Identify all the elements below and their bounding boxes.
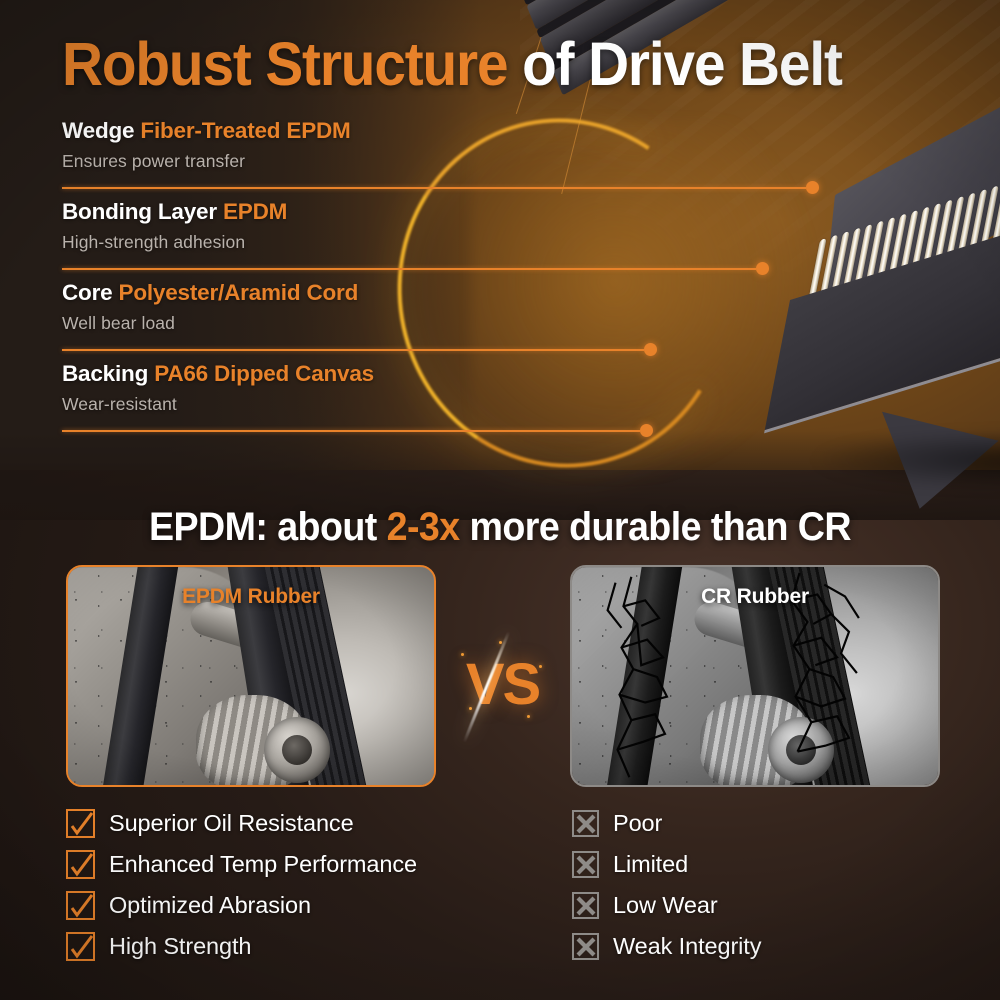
check-icon	[66, 850, 95, 879]
list-item: High Strength	[66, 926, 417, 967]
cross-icon	[572, 810, 599, 837]
list-item-label: Enhanced Temp Performance	[109, 851, 417, 878]
feature-connector-line	[62, 430, 640, 432]
card-label-epdm: EPDM Rubber	[68, 585, 434, 609]
vs-label: VS	[455, 645, 550, 725]
feature-connector-line	[62, 187, 806, 189]
list-item-label: Poor	[613, 810, 662, 837]
connector-dot-icon	[644, 343, 657, 356]
feature-label: Bonding Layer	[62, 199, 223, 224]
infographic-canvas: Robust Structure of Drive Belt Wedge Fib…	[0, 0, 1000, 1000]
feature-item-bonding-layer: Bonding Layer EPDM High-strength adhesio…	[62, 199, 942, 280]
subhead-pre: EPDM: about	[149, 505, 387, 549]
feature-heading: Bonding Layer EPDM	[62, 199, 942, 225]
card-epdm-rubber[interactable]: EPDM Rubber	[66, 565, 436, 787]
feature-heading: Backing PA66 Dipped Canvas	[62, 361, 942, 387]
subhead-post: more durable than CR	[460, 505, 851, 549]
connector-dot-icon	[756, 262, 769, 275]
feature-subtitle: High-strength adhesion	[62, 232, 942, 253]
page-title-accent: Robust Structure	[62, 30, 507, 98]
feature-connector-line	[62, 268, 756, 270]
epdm-benefits-list: Superior Oil Resistance Enhanced Temp Pe…	[66, 803, 417, 967]
subhead-highlight: 2-3x	[387, 505, 460, 549]
durability-subheadline: EPDM: about 2-3x more durable than CR	[30, 505, 970, 550]
list-item-label: Low Wear	[613, 892, 718, 919]
feature-heading: Wedge Fiber-Treated EPDM	[62, 118, 942, 144]
cross-icon	[572, 851, 599, 878]
card-cr-rubber[interactable]: CR Rubber	[570, 565, 940, 787]
list-item: Poor	[572, 803, 761, 844]
list-item-label: Optimized Abrasion	[109, 892, 311, 919]
feature-subtitle: Wear-resistant	[62, 394, 942, 415]
cr-drawbacks-list: Poor Limited Low Wear Weak Integrity	[572, 803, 761, 967]
feature-label: Core	[62, 280, 119, 305]
vs-badge: VS	[455, 645, 550, 725]
list-item: Optimized Abrasion	[66, 885, 417, 926]
list-item: Weak Integrity	[572, 926, 761, 967]
feature-value: PA66 Dipped Canvas	[154, 361, 374, 386]
feature-item-backing: Backing PA66 Dipped Canvas Wear-resistan…	[62, 361, 942, 442]
feature-connector-line	[62, 349, 644, 351]
check-icon	[66, 809, 95, 838]
feature-label: Backing	[62, 361, 154, 386]
feature-value: Polyester/Aramid Cord	[119, 280, 359, 305]
check-icon	[66, 932, 95, 961]
card-label-cr: CR Rubber	[572, 585, 938, 609]
feature-item-core: Core Polyester/Aramid Cord Well bear loa…	[62, 280, 942, 361]
connector-dot-icon	[640, 424, 653, 437]
feature-label: Wedge	[62, 118, 140, 143]
connector-dot-icon	[806, 181, 819, 194]
page-title: Robust Structure of Drive Belt	[62, 34, 842, 95]
list-item: Enhanced Temp Performance	[66, 844, 417, 885]
list-item-label: Limited	[613, 851, 688, 878]
list-item-label: Superior Oil Resistance	[109, 810, 354, 837]
feature-subtitle: Well bear load	[62, 313, 942, 334]
cross-icon	[572, 933, 599, 960]
check-icon	[66, 891, 95, 920]
feature-callout-list: Wedge Fiber-Treated EPDM Ensures power t…	[62, 118, 942, 442]
list-item: Low Wear	[572, 885, 761, 926]
feature-value: Fiber-Treated EPDM	[140, 118, 350, 143]
list-item: Limited	[572, 844, 761, 885]
list-item-label: High Strength	[109, 933, 251, 960]
feature-item-wedge: Wedge Fiber-Treated EPDM Ensures power t…	[62, 118, 942, 199]
feature-subtitle: Ensures power transfer	[62, 151, 942, 172]
feature-heading: Core Polyester/Aramid Cord	[62, 280, 942, 306]
list-item-label: Weak Integrity	[613, 933, 761, 960]
feature-value: EPDM	[223, 199, 287, 224]
page-title-rest: of Drive Belt	[507, 30, 841, 98]
list-item: Superior Oil Resistance	[66, 803, 417, 844]
cross-icon	[572, 892, 599, 919]
